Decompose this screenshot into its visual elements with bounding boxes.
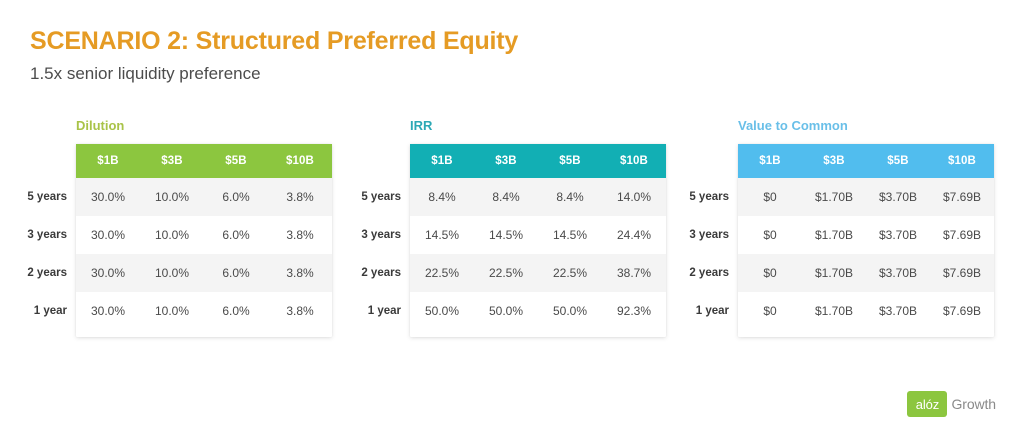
table-cell: 30.0% [76, 178, 140, 216]
table-cell: 6.0% [204, 178, 268, 216]
row-label: 2 years [684, 254, 738, 292]
column-header: $1B [76, 144, 140, 178]
column-header: $10B [930, 144, 994, 178]
table-cell: 50.0% [474, 292, 538, 330]
panel-title: Dilution [76, 118, 124, 134]
table-cell: $0 [738, 254, 802, 292]
table-cell: $7.69B [930, 216, 994, 254]
row-label: 3 years [356, 216, 410, 254]
row-label: 2 years [22, 254, 76, 292]
data-table: $1B$3B$5B$10B8.4%8.4%8.4%14.0%14.5%14.5%… [410, 144, 666, 330]
column-header: $3B [474, 144, 538, 178]
table-cell: 22.5% [474, 254, 538, 292]
panel-title: IRR [410, 118, 432, 134]
table-cell: 24.4% [602, 216, 666, 254]
table-row: 30.0%10.0%6.0%3.8% [76, 216, 332, 254]
table-cell: 6.0% [204, 292, 268, 330]
table-cell: 10.0% [140, 292, 204, 330]
table-cell: 3.8% [268, 292, 332, 330]
table-cell: $7.69B [930, 178, 994, 216]
column-header: $5B [204, 144, 268, 178]
table-cell: $1.70B [802, 254, 866, 292]
table-cell: $3.70B [866, 216, 930, 254]
logo-wordmark: Growth [951, 397, 996, 411]
table-cell: $1.70B [802, 216, 866, 254]
table-row: 22.5%22.5%22.5%38.7% [410, 254, 666, 292]
tables-region: Dilution5 years3 years2 years1 year$1B$3… [0, 118, 1024, 363]
table-row: $0$1.70B$3.70B$7.69B [738, 178, 994, 216]
row-label: 5 years [684, 178, 738, 216]
column-header: $1B [738, 144, 802, 178]
table-cell: 30.0% [76, 292, 140, 330]
table-cell: $0 [738, 178, 802, 216]
panel-body: 5 years3 years2 years1 year$1B$3B$5B$10B… [684, 144, 994, 337]
table-cell: 6.0% [204, 216, 268, 254]
table-cell: 3.8% [268, 254, 332, 292]
data-table: $1B$3B$5B$10B$0$1.70B$3.70B$7.69B$0$1.70… [738, 144, 994, 330]
table-header-row: $1B$3B$5B$10B [738, 144, 994, 178]
row-label: 1 year [22, 292, 76, 330]
panel-body: 5 years3 years2 years1 year$1B$3B$5B$10B… [356, 144, 666, 337]
table-cell: 14.5% [538, 216, 602, 254]
table-cell: 22.5% [538, 254, 602, 292]
panel-title: Value to Common [738, 118, 848, 134]
table-cell: 8.4% [474, 178, 538, 216]
table-cell: $0 [738, 292, 802, 330]
table-cell: 3.8% [268, 178, 332, 216]
table-cell: 30.0% [76, 216, 140, 254]
row-label-rail: 5 years3 years2 years1 year [356, 144, 410, 330]
table-row: 14.5%14.5%14.5%24.4% [410, 216, 666, 254]
page-title: SCENARIO 2: Structured Preferred Equity [30, 26, 930, 56]
table-row: 50.0%50.0%50.0%92.3% [410, 292, 666, 330]
row-label-rail: 5 years3 years2 years1 year [22, 144, 76, 330]
table-cell: 10.0% [140, 216, 204, 254]
column-header: $3B [140, 144, 204, 178]
table-row: 30.0%10.0%6.0%3.8% [76, 292, 332, 330]
row-label: 5 years [356, 178, 410, 216]
table-card: $1B$3B$5B$10B$0$1.70B$3.70B$7.69B$0$1.70… [738, 144, 994, 337]
table-card: $1B$3B$5B$10B8.4%8.4%8.4%14.0%14.5%14.5%… [410, 144, 666, 337]
table-row: 30.0%10.0%6.0%3.8% [76, 178, 332, 216]
table-cell: 10.0% [140, 254, 204, 292]
table-cell: $7.69B [930, 292, 994, 330]
table-cell: $3.70B [866, 292, 930, 330]
table-cell: 38.7% [602, 254, 666, 292]
table-cell: 6.0% [204, 254, 268, 292]
row-label: 1 year [684, 292, 738, 330]
table-row: 8.4%8.4%8.4%14.0% [410, 178, 666, 216]
table-row: $0$1.70B$3.70B$7.69B [738, 254, 994, 292]
table-card: $1B$3B$5B$10B30.0%10.0%6.0%3.8%30.0%10.0… [76, 144, 332, 337]
logo-mark-text: alóz [916, 398, 939, 411]
column-header: $5B [538, 144, 602, 178]
row-label: 3 years [684, 216, 738, 254]
table-cell: $3.70B [866, 178, 930, 216]
column-header: $5B [866, 144, 930, 178]
column-header: $3B [802, 144, 866, 178]
column-header: $10B [602, 144, 666, 178]
table-cell: $0 [738, 216, 802, 254]
slide-header: SCENARIO 2: Structured Preferred Equity … [30, 26, 930, 85]
table-cell: 92.3% [602, 292, 666, 330]
table-cell: 3.8% [268, 216, 332, 254]
table-cell: 8.4% [410, 178, 474, 216]
table-cell: $1.70B [802, 292, 866, 330]
table-header-row: $1B$3B$5B$10B [410, 144, 666, 178]
table-cell: 50.0% [410, 292, 474, 330]
table-cell: 14.5% [474, 216, 538, 254]
table-cell: 22.5% [410, 254, 474, 292]
table-row: $0$1.70B$3.70B$7.69B [738, 216, 994, 254]
table-cell: 30.0% [76, 254, 140, 292]
data-table: $1B$3B$5B$10B30.0%10.0%6.0%3.8%30.0%10.0… [76, 144, 332, 330]
table-row: 30.0%10.0%6.0%3.8% [76, 254, 332, 292]
table-row: $0$1.70B$3.70B$7.69B [738, 292, 994, 330]
column-header: $10B [268, 144, 332, 178]
column-header: $1B [410, 144, 474, 178]
logo: alóz Growth [907, 391, 996, 417]
table-cell: 50.0% [538, 292, 602, 330]
table-cell: 8.4% [538, 178, 602, 216]
table-cell: $1.70B [802, 178, 866, 216]
table-cell: $3.70B [866, 254, 930, 292]
row-label: 5 years [22, 178, 76, 216]
row-label: 3 years [22, 216, 76, 254]
row-label: 2 years [356, 254, 410, 292]
table-cell: 10.0% [140, 178, 204, 216]
panel-body: 5 years3 years2 years1 year$1B$3B$5B$10B… [22, 144, 332, 337]
table-cell: 14.0% [602, 178, 666, 216]
row-label-rail: 5 years3 years2 years1 year [684, 144, 738, 330]
table-cell: $7.69B [930, 254, 994, 292]
row-label: 1 year [356, 292, 410, 330]
logo-mark-icon: alóz [907, 391, 947, 417]
table-header-row: $1B$3B$5B$10B [76, 144, 332, 178]
table-cell: 14.5% [410, 216, 474, 254]
page-subtitle: 1.5x senior liquidity preference [30, 63, 930, 85]
